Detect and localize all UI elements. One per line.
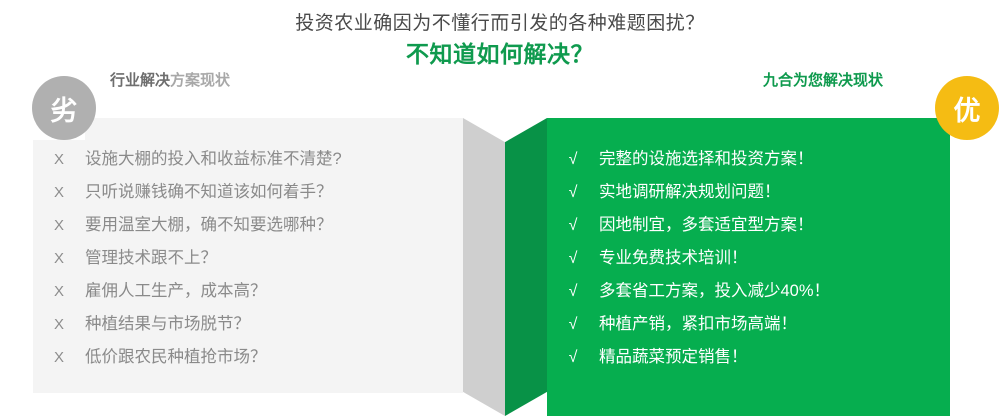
- list-item: √ 多套省工方案，投入减少40%！: [547, 275, 950, 308]
- check-icon: √: [547, 176, 599, 209]
- fold-gray-face: [463, 118, 505, 416]
- list-item: X 种植结果与市场脱节？: [33, 308, 463, 341]
- list-item: √ 实地调研解决规划问题！: [547, 176, 950, 209]
- badge-superior: 优: [935, 76, 999, 140]
- left-panel-title-soft: 方案现状: [170, 72, 230, 89]
- list-item-label: 因地制宜，多套适宜型方案！: [599, 209, 814, 242]
- list-item: √ 因地制宜，多套适宜型方案！: [547, 209, 950, 242]
- problem-list: X 设施大棚的投入和收益标准不清楚? X 只听说赚钱确不知道该如何着手？ X 要…: [33, 143, 463, 374]
- cross-icon: X: [33, 176, 85, 209]
- badge-superior-label: 优: [954, 89, 981, 128]
- badge-inferior-label: 劣: [51, 89, 78, 128]
- cross-icon: X: [33, 143, 85, 176]
- solution-list: √ 完整的设施选择和投资方案！ √ 实地调研解决规划问题！ √ 因地制宜，多套适…: [547, 143, 950, 374]
- left-panel-title-strong: 行业解决: [110, 72, 170, 89]
- list-item-label: 要用温室大棚，确不知要选哪种？: [85, 209, 333, 242]
- headline-question: 投资农业确因为不懂行而引发的各种难题困扰？: [0, 11, 1000, 37]
- list-item-label: 完整的设施选择和投资方案！: [599, 143, 814, 176]
- check-icon: √: [547, 341, 599, 374]
- right-panel-title: 九合为您解决现状: [763, 71, 883, 91]
- list-item-label: 只听说赚钱确不知道该如何着手？: [85, 176, 333, 209]
- list-item-label: 雇佣人工生产，成本高？: [85, 275, 267, 308]
- list-item-label: 专业免费技术培训！: [599, 242, 748, 275]
- comparison-infographic: 投资农业确因为不懂行而引发的各种难题困扰？ 不知道如何解决？ 劣 优 行业解决方…: [0, 0, 1000, 416]
- check-icon: √: [547, 242, 599, 275]
- list-item: √ 专业免费技术培训！: [547, 242, 950, 275]
- headline-emphasis: 不知道如何解决？: [0, 39, 1000, 69]
- list-item-label: 实地调研解决规划问题！: [599, 176, 781, 209]
- list-item: √ 完整的设施选择和投资方案！: [547, 143, 950, 176]
- list-item-label: 种植产销，紧扣市场高端！: [599, 308, 797, 341]
- list-item: X 雇佣人工生产，成本高？: [33, 275, 463, 308]
- badge-inferior: 劣: [32, 76, 96, 140]
- list-item: X 低价跟农民种植抢市场？: [33, 341, 463, 374]
- list-item-label: 低价跟农民种植抢市场？: [85, 341, 267, 374]
- check-icon: √: [547, 209, 599, 242]
- list-item-label: 多套省工方案，投入减少40%！: [599, 275, 830, 308]
- list-item: X 管理技术跟不上？: [33, 242, 463, 275]
- cross-icon: X: [33, 209, 85, 242]
- list-item: X 要用温室大棚，确不知要选哪种？: [33, 209, 463, 242]
- list-item: √ 种植产销，紧扣市场高端！: [547, 308, 950, 341]
- check-icon: √: [547, 275, 599, 308]
- list-item: √ 精品蔬菜预定销售！: [547, 341, 950, 374]
- list-item: X 设施大棚的投入和收益标准不清楚?: [33, 143, 463, 176]
- list-item: X 只听说赚钱确不知道该如何着手？: [33, 176, 463, 209]
- cross-icon: X: [33, 308, 85, 341]
- check-icon: √: [547, 308, 599, 341]
- cross-icon: X: [33, 341, 85, 374]
- fold-green-face: [505, 118, 547, 416]
- list-item-label: 管理技术跟不上？: [85, 242, 217, 275]
- list-item-label: 设施大棚的投入和收益标准不清楚?: [85, 143, 342, 176]
- cross-icon: X: [33, 242, 85, 275]
- check-icon: √: [547, 143, 599, 176]
- list-item-label: 精品蔬菜预定销售！: [599, 341, 748, 374]
- left-panel-title: 行业解决方案现状: [110, 71, 230, 91]
- cross-icon: X: [33, 275, 85, 308]
- headline-block: 投资农业确因为不懂行而引发的各种难题困扰？ 不知道如何解决？: [0, 0, 1000, 69]
- list-item-label: 种植结果与市场脱节？: [85, 308, 250, 341]
